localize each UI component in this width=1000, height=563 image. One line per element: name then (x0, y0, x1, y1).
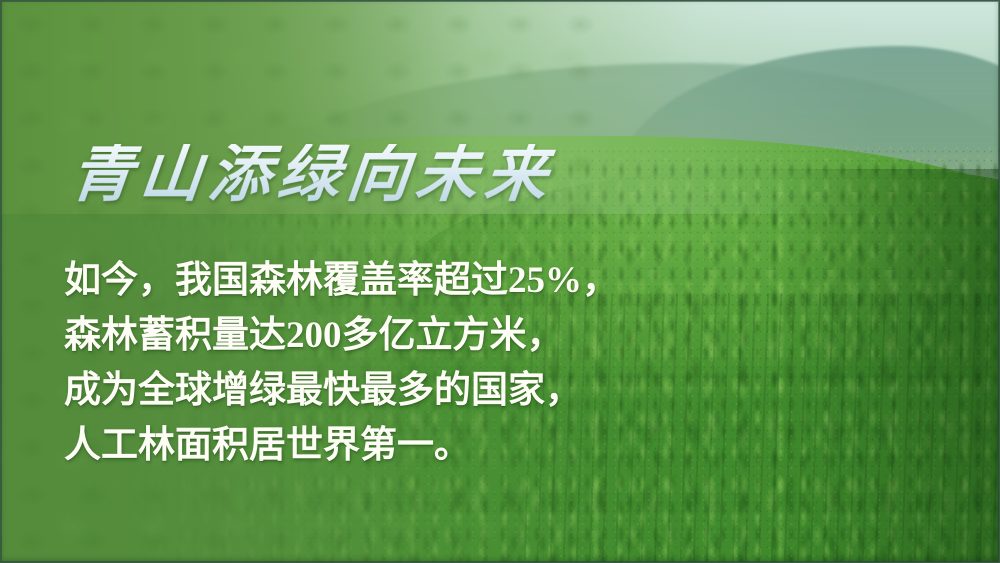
body-line-3: 成为全球增绿最快最多的国家， (64, 363, 684, 418)
slide-body: 如今，我国森林覆盖率超过25%， 森林蓄积量达200多亿立方米， 成为全球增绿最… (64, 253, 684, 473)
slide-canvas: 青山添绿向未来 如今，我国森林覆盖率超过25%， 森林蓄积量达200多亿立方米，… (0, 0, 1000, 563)
body-line-4: 人工林面积居世界第一。 (64, 418, 684, 473)
body-line-2: 森林蓄积量达200多亿立方米， (64, 308, 684, 363)
slide-title: 青山添绿向未来 (68, 144, 558, 206)
body-line-1: 如今，我国森林覆盖率超过25%， (64, 253, 684, 308)
